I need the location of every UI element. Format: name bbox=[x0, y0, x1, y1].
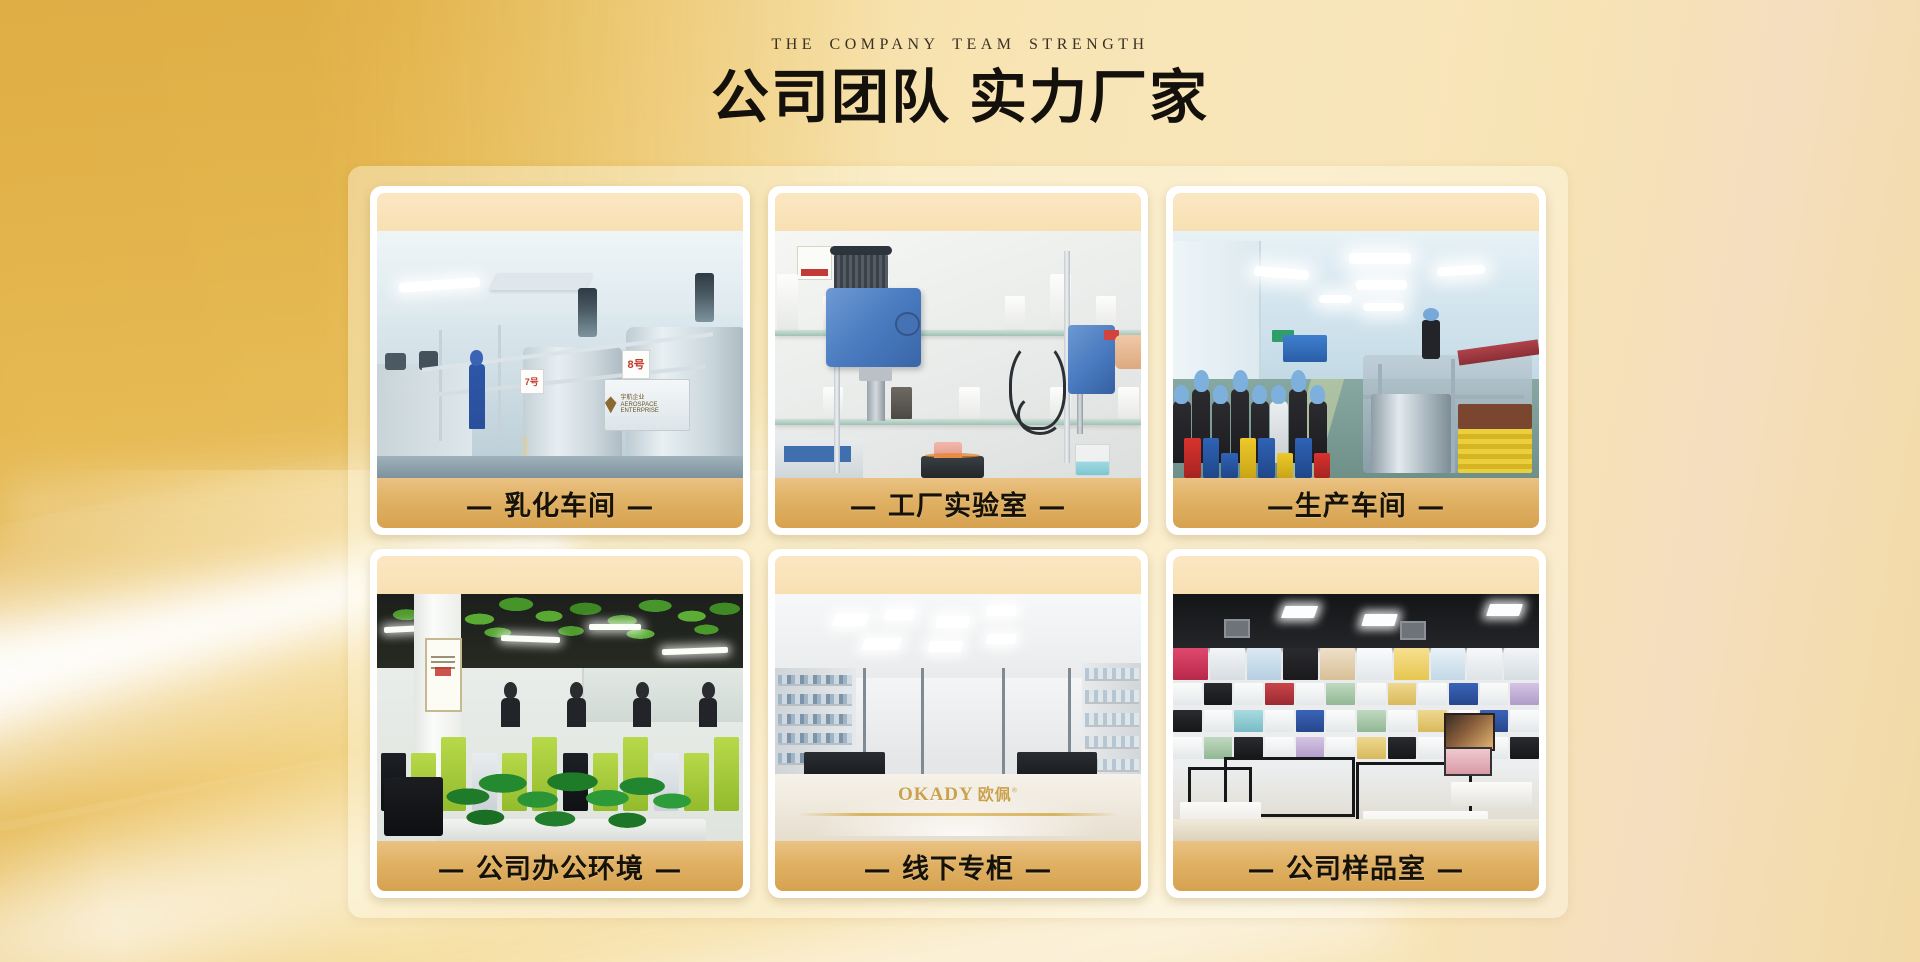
product-poster bbox=[1444, 713, 1496, 752]
card-top-band bbox=[1173, 556, 1539, 594]
worker-figure bbox=[469, 364, 485, 428]
card-caption-office-environment: — 公司办公环境 — bbox=[377, 841, 743, 891]
brand-sign-en: AEROSPACE ENTERPRISE bbox=[621, 402, 659, 415]
lab-certificate bbox=[797, 246, 832, 280]
card-top-band bbox=[1173, 193, 1539, 231]
card-inner: — 公司办公环境 — bbox=[377, 556, 743, 891]
card-caption-offline-counter: — 线下专柜 — bbox=[775, 841, 1141, 891]
brand-diamond-icon bbox=[605, 396, 617, 413]
gallery-card-emulsification-workshop[interactable]: 7号 8号 宇航企业 AEROSPACE ENTERPRISE — 乳化车间 — bbox=[370, 186, 750, 535]
floor-logo-cn: 欧佩 bbox=[978, 787, 1012, 804]
monitor-icon bbox=[384, 777, 443, 836]
photo-factory-laboratory bbox=[775, 231, 1141, 478]
tank-label-7: 7号 bbox=[520, 369, 544, 393]
card-inner: —生产车间 — bbox=[1173, 193, 1539, 528]
product-poster bbox=[1444, 747, 1492, 776]
card-top-band bbox=[377, 556, 743, 594]
page-title-part1: 公司团队 bbox=[711, 63, 951, 131]
floor-logo-en: OKADY bbox=[898, 784, 974, 805]
floor-brand-logo: OKADY欧佩® bbox=[898, 781, 1018, 806]
crate-row bbox=[1184, 438, 1330, 478]
hand-figure bbox=[1115, 335, 1141, 370]
card-inner: — 公司样品室 — bbox=[1173, 556, 1539, 891]
gallery-grid: 7号 8号 宇航企业 AEROSPACE ENTERPRISE — 乳化车间 — bbox=[348, 166, 1568, 918]
lightbox-ad-row bbox=[1173, 648, 1539, 680]
page-root: THE COMPANY TEAM STRENGTH 公司团队实力厂家 bbox=[0, 0, 1920, 962]
factory-brand-sign: 宇航企业 AEROSPACE ENTERPRISE bbox=[604, 379, 690, 430]
photo-offline-counter: OKADY欧佩® bbox=[775, 594, 1141, 841]
card-inner: — 工厂实验室 — bbox=[775, 193, 1141, 528]
card-top-band bbox=[377, 193, 743, 231]
beaker-icon bbox=[1075, 444, 1110, 476]
photo-production-workshop bbox=[1173, 231, 1539, 478]
photo-office-environment bbox=[377, 594, 743, 841]
card-inner: OKADY欧佩® — 线下专柜 — bbox=[775, 556, 1141, 891]
mixer-motor-icon bbox=[578, 288, 596, 337]
tank-label-8: 8号 bbox=[622, 350, 650, 379]
homogenizer-mixer bbox=[826, 288, 921, 367]
mixer-motor-icon bbox=[695, 273, 713, 322]
card-caption-company-sample-room: — 公司样品室 — bbox=[1173, 841, 1539, 891]
card-caption-factory-laboratory: — 工厂实验室 — bbox=[775, 478, 1141, 528]
product-crate bbox=[1458, 429, 1531, 473]
gallery-card-company-sample-room[interactable]: — 公司样品室 — bbox=[1166, 549, 1546, 898]
floor-logo-mark: ® bbox=[1012, 787, 1018, 795]
worker-figure bbox=[1422, 320, 1440, 360]
card-top-band bbox=[775, 193, 1141, 231]
brand-sign-cn: 宇航企业 bbox=[621, 395, 645, 401]
gallery-card-production-workshop[interactable]: —生产车间 — bbox=[1166, 186, 1546, 535]
card-inner: 7号 8号 宇航企业 AEROSPACE ENTERPRISE — 乳化车间 — bbox=[377, 193, 743, 528]
photo-company-sample-room bbox=[1173, 594, 1539, 841]
office-plants bbox=[443, 767, 692, 841]
gallery-card-office-environment[interactable]: — 公司办公环境 — bbox=[370, 549, 750, 898]
card-top-band bbox=[775, 556, 1141, 594]
gallery-card-offline-counter[interactable]: OKADY欧佩® — 线下专柜 — bbox=[768, 549, 1148, 898]
page-header: THE COMPANY TEAM STRENGTH 公司团队实力厂家 bbox=[0, 0, 1920, 131]
page-title-part2: 实力厂家 bbox=[969, 63, 1209, 131]
header-eyebrow: THE COMPANY TEAM STRENGTH bbox=[0, 36, 1920, 54]
card-caption-emulsification-workshop: — 乳化车间 — bbox=[377, 478, 743, 528]
photo-emulsification-workshop: 7号 8号 宇航企业 AEROSPACE ENTERPRISE bbox=[377, 231, 743, 478]
card-caption-production-workshop: —生产车间 — bbox=[1173, 478, 1539, 528]
gallery-card-factory-laboratory[interactable]: — 工厂实验室 — bbox=[768, 186, 1148, 535]
wall-certificate bbox=[425, 638, 462, 711]
page-title: 公司团队实力厂家 bbox=[0, 64, 1920, 131]
